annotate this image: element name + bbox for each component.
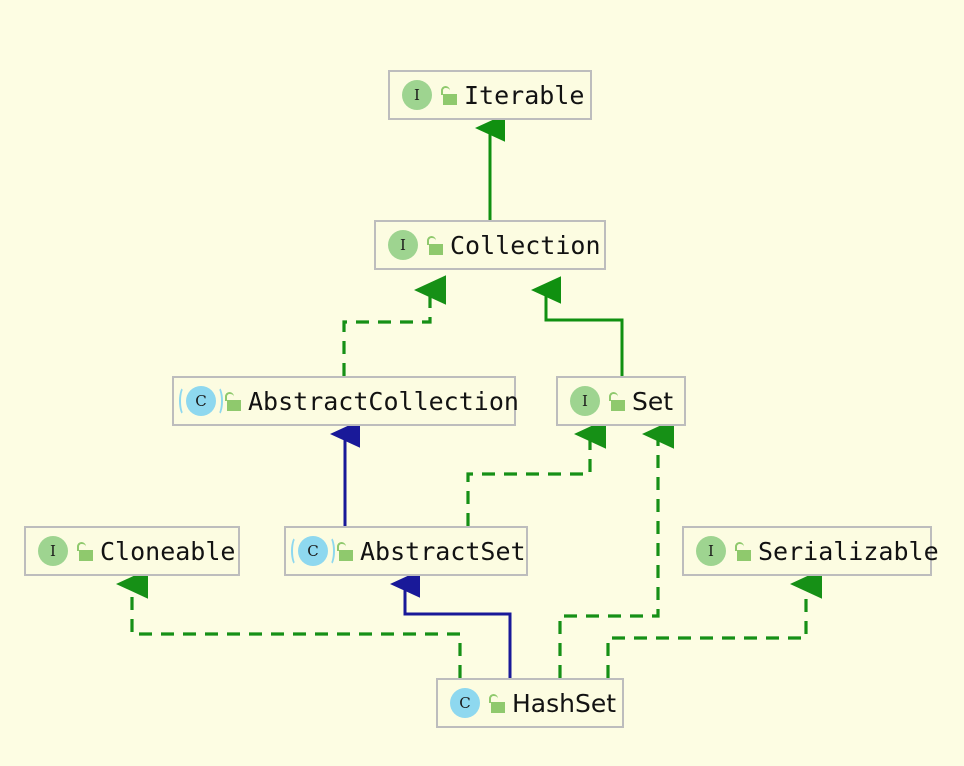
class-node-hashset[interactable]: CHashSet xyxy=(436,678,624,728)
class-node-cloneable[interactable]: ICloneable xyxy=(24,526,240,576)
edge-hashset-absset xyxy=(405,584,510,678)
public-visibility-lock-icon xyxy=(441,86,458,105)
class-node-label: AbstractSet xyxy=(354,537,540,566)
badge-letter: I xyxy=(696,536,726,566)
class-node-label: Set xyxy=(626,387,687,416)
interface-badge-icon: I xyxy=(388,230,418,260)
uml-class-diagram: IIterableICollectionCAbstractCollectionI… xyxy=(0,0,964,766)
interface-badge-icon: I xyxy=(38,536,68,566)
badge-letter: C xyxy=(450,688,480,718)
badge-letter: I xyxy=(570,386,600,416)
edge-hashset-serializable xyxy=(608,584,806,678)
class-node-label: HashSet xyxy=(506,689,630,718)
class-node-label: Cloneable xyxy=(94,537,249,566)
class-node-abscoll[interactable]: CAbstractCollection xyxy=(172,376,516,426)
class-node-label: Iterable xyxy=(458,81,598,110)
edge-absset-set xyxy=(468,434,590,526)
edge-set-collection xyxy=(546,290,622,376)
edge-hashset-set xyxy=(560,434,658,678)
public-visibility-lock-icon xyxy=(225,392,242,411)
public-visibility-lock-icon xyxy=(337,542,354,561)
abstract-class-badge-icon: C xyxy=(186,386,216,416)
edge-hashset-cloneable xyxy=(132,584,460,678)
interface-badge-icon: I xyxy=(696,536,726,566)
class-node-iterable[interactable]: IIterable xyxy=(388,70,592,120)
public-visibility-lock-icon xyxy=(489,694,506,713)
badge-letter: C xyxy=(186,386,216,416)
class-node-label: Collection xyxy=(444,231,615,260)
badge-letter: I xyxy=(38,536,68,566)
class-node-label: AbstractCollection xyxy=(242,387,533,416)
abstract-class-badge-icon: C xyxy=(298,536,328,566)
class-node-set[interactable]: ISet xyxy=(556,376,686,426)
badge-letter: I xyxy=(388,230,418,260)
public-visibility-lock-icon xyxy=(77,542,94,561)
interface-badge-icon: I xyxy=(402,80,432,110)
public-visibility-lock-icon xyxy=(609,392,626,411)
interface-badge-icon: I xyxy=(570,386,600,416)
class-badge-icon: C xyxy=(450,688,480,718)
class-node-label: Serializable xyxy=(752,537,953,566)
class-node-collection[interactable]: ICollection xyxy=(374,220,606,270)
badge-letter: I xyxy=(402,80,432,110)
public-visibility-lock-icon xyxy=(427,236,444,255)
public-visibility-lock-icon xyxy=(735,542,752,561)
class-node-serializable[interactable]: ISerializable xyxy=(682,526,932,576)
edge-abscoll-collection xyxy=(344,290,430,376)
class-node-absset[interactable]: CAbstractSet xyxy=(284,526,528,576)
badge-letter: C xyxy=(298,536,328,566)
